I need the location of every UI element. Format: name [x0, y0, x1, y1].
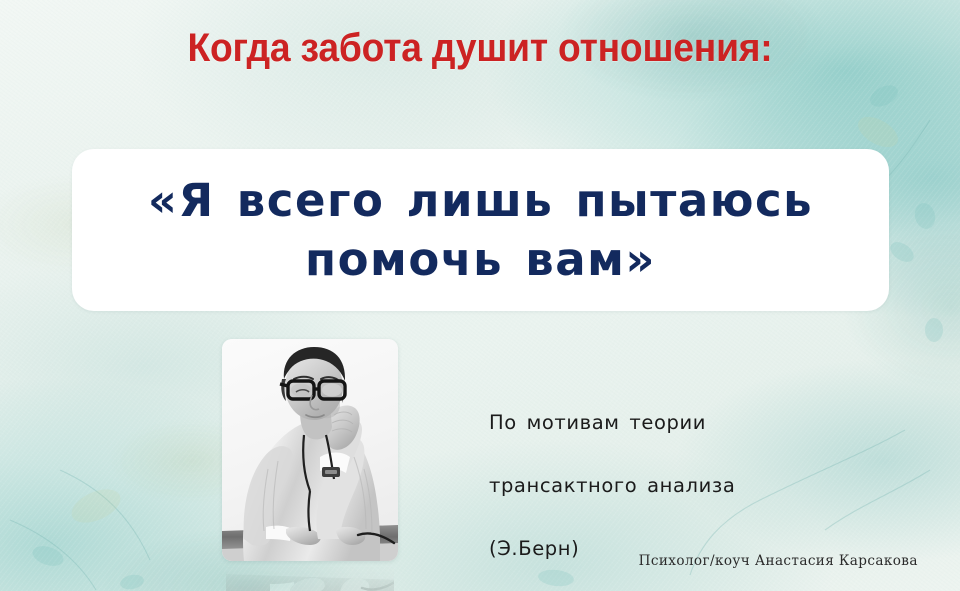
portrait-photo	[222, 339, 398, 561]
quote-line-2: помочь вам»	[86, 230, 875, 289]
quote-line-1: «Я всего лишь пытаюсь	[86, 171, 875, 230]
quote-text-block: «Я всего лишь пытаюсь помочь вам»	[72, 171, 889, 290]
portrait-photo-card	[222, 339, 398, 561]
author-signature: Психолог/коуч Анастасия Карсакова	[639, 553, 918, 569]
slide-canvas: Когда забота душит отношения: «Я всего л…	[0, 0, 960, 591]
quote-card: «Я всего лишь пытаюсь помочь вам»	[72, 149, 889, 311]
attribution-line-2: трансактного анализа	[489, 470, 735, 502]
portrait-photo-reflection	[226, 562, 394, 591]
portrait-illustration	[222, 339, 398, 561]
page-title: Когда забота душит отношения:	[34, 26, 927, 71]
attribution-line-1: По мотивам теории	[489, 407, 735, 439]
